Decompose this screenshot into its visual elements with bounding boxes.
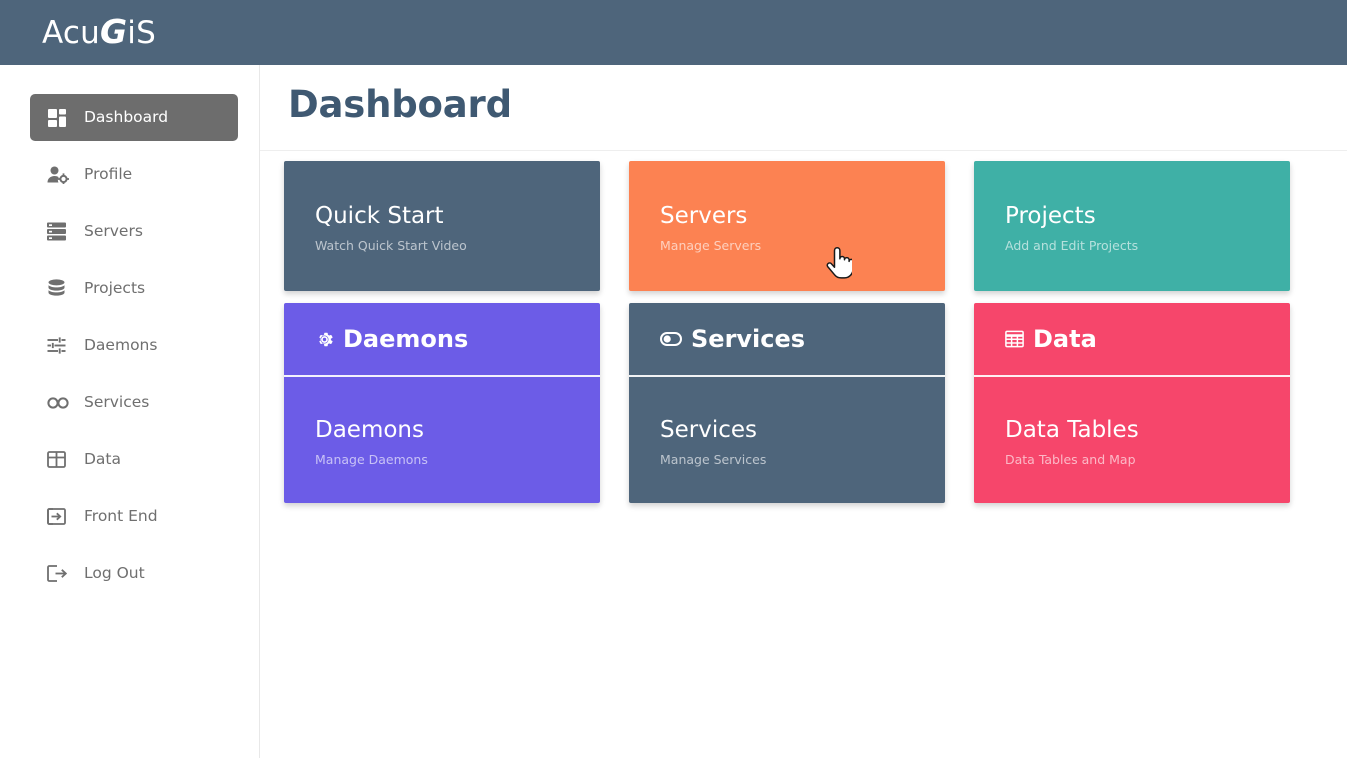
card-servers[interactable]: Servers Manage Servers [629,161,945,291]
card-body: Servers Manage Servers [629,161,945,253]
card-subtitle: Data Tables and Map [1005,452,1290,467]
title-divider [260,150,1347,151]
dashboard-card-grid: Quick Start Watch Quick Start Video Serv… [284,161,1324,515]
sidebar-item-log-out[interactable]: Log Out [30,550,238,597]
card-header-label: Data [1033,325,1097,353]
card-body: Daemons Manage Daemons [284,377,600,467]
card-header-label: Daemons [343,325,468,353]
sidebar-item-label: Log Out [84,566,145,582]
sidebar-item-label: Servers [84,224,143,240]
sidebar-item-services[interactable]: Services [30,379,238,426]
brand-logo-suffix: iS [127,15,156,51]
server-stack-icon [47,222,73,242]
sidebar-item-projects[interactable]: Projects [30,265,238,312]
card-subtitle: Manage Servers [660,238,945,253]
sidebar-item-label: Data [84,452,121,468]
card-body: Data Tables Data Tables and Map [974,377,1290,467]
main-content: Dashboard Quick Start Watch Quick Start … [260,65,1347,758]
brand-logo[interactable]: AcuGiS [42,12,156,51]
card-body: Projects Add and Edit Projects [974,161,1290,253]
sidebar-item-label: Profile [84,167,132,183]
card-services[interactable]: Services Services Manage Services [629,303,945,503]
card-title: Services [660,418,945,443]
card-subtitle: Manage Daemons [315,452,600,467]
card-title: Daemons [315,418,600,443]
table-grid-icon [47,450,73,470]
top-header-bar: AcuGiS [0,0,1347,65]
card-title: Data Tables [1005,418,1290,443]
sidebar-item-front-end[interactable]: Front End [30,493,238,540]
toggle-icon [660,332,682,346]
card-title: Servers [660,204,945,229]
card-subtitle: Manage Services [660,452,945,467]
sidebar-item-data[interactable]: Data [30,436,238,483]
card-row-1: Quick Start Watch Quick Start Video Serv… [284,161,1324,291]
sidebar-navigation: Dashboard Profile [0,65,260,758]
sidebar-item-label: Front End [84,509,158,525]
card-row-2: Daemons Daemons Manage Daemons Services [284,303,1324,503]
card-header-label: Services [691,325,805,353]
card-projects[interactable]: Projects Add and Edit Projects [974,161,1290,291]
sliders-icon [47,336,73,356]
page-title: Dashboard [288,83,512,126]
brand-logo-accent: G [100,12,127,51]
card-title: Projects [1005,204,1290,229]
card-body: Quick Start Watch Quick Start Video [284,161,600,253]
sidebar-item-dashboard[interactable]: Dashboard [30,94,238,141]
card-subtitle: Add and Edit Projects [1005,238,1290,253]
brand-logo-prefix: Acu [42,15,100,51]
table-grid-icon [1005,330,1024,348]
dashboard-grid-icon [47,108,73,128]
card-header: Services [629,303,945,377]
gear-icon [315,330,334,349]
sidebar-item-servers[interactable]: Servers [30,208,238,255]
card-subtitle: Watch Quick Start Video [315,238,600,253]
card-title: Quick Start [315,204,600,229]
card-data-tables[interactable]: Data Data Tables Data Tables and Map [974,303,1290,503]
sign-in-icon [47,507,73,527]
sidebar-item-profile[interactable]: Profile [30,151,238,198]
card-header: Data [974,303,1290,377]
sidebar-item-label: Services [84,395,149,411]
card-quick-start[interactable]: Quick Start Watch Quick Start Video [284,161,600,291]
card-header: Daemons [284,303,600,377]
sidebar-item-label: Projects [84,281,145,297]
sidebar-item-label: Daemons [84,338,157,354]
sign-out-icon [47,564,73,584]
infinity-icon [47,393,73,413]
user-gear-icon [47,165,73,185]
card-daemons[interactable]: Daemons Daemons Manage Daemons [284,303,600,503]
database-icon [47,279,73,299]
sidebar-item-daemons[interactable]: Daemons [30,322,238,369]
sidebar-item-label: Dashboard [84,110,168,126]
card-body: Services Manage Services [629,377,945,467]
